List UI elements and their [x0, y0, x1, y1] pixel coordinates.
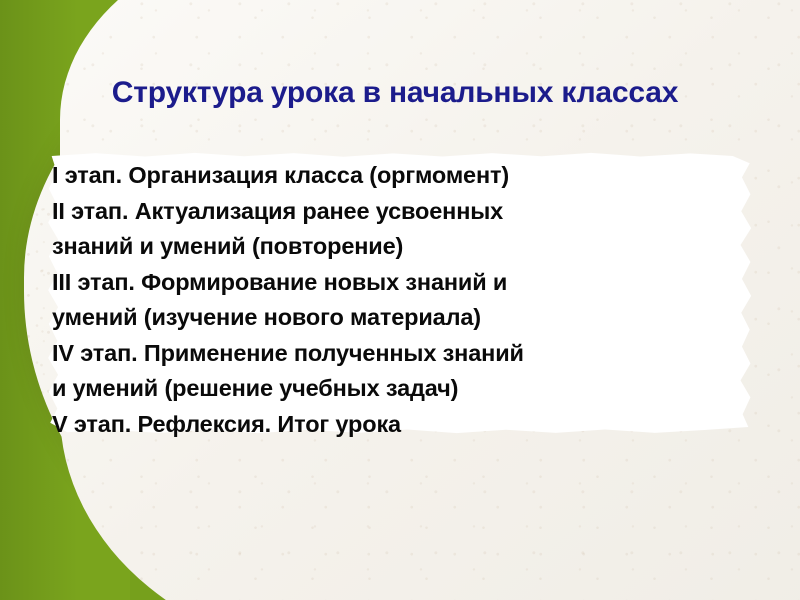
lesson-stage-line: V этап. Рефлексия. Итог урока: [52, 407, 792, 443]
presentation-slide: Структура урока в начальных классах I эт…: [0, 0, 800, 600]
lesson-stage-line: I этап. Организация класса (оргмомент): [52, 158, 792, 194]
lesson-stages-list: I этап. Организация класса (оргмомент) I…: [52, 158, 792, 442]
lesson-stage-line: умений (изучение нового материала): [52, 300, 792, 336]
lesson-stage-line: знаний и умений (повторение): [52, 229, 792, 265]
lesson-stage-line: IV этап. Применение полученных знаний: [52, 336, 792, 372]
lesson-stage-line: III этап. Формирование новых знаний и: [52, 265, 792, 301]
lesson-stage-line: II этап. Актуализация ранее усвоенных: [52, 194, 792, 230]
lesson-stage-line: и умений (решение учебных задач): [52, 371, 792, 407]
slide-title: Структура урока в начальных классах: [0, 76, 790, 110]
